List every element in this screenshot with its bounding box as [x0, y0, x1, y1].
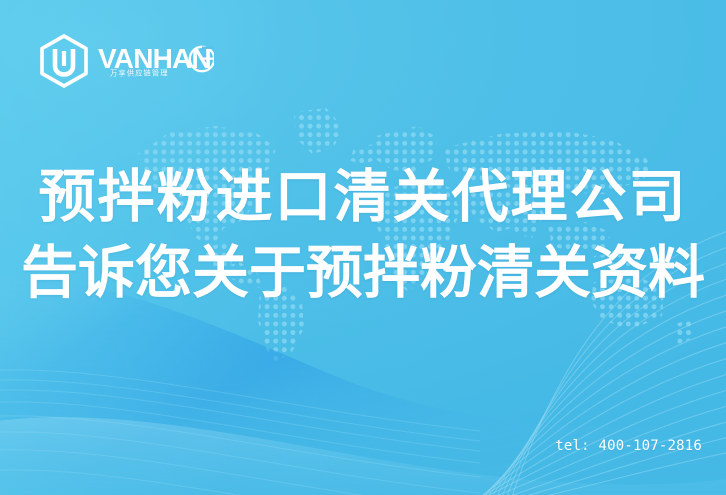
headline-block: 预拌粉进口清关代理公司 告诉您关于预拌粉清关资料 [0, 160, 726, 312]
company-logo[interactable]: VANHAN 万享供应链管理 [36, 33, 98, 89]
logo-subtitle: 万享供应链管理 [110, 68, 169, 78]
contact-telephone[interactable]: tel: 400-107-2816 [555, 438, 702, 454]
headline-line-1: 预拌粉进口清关代理公司 [0, 160, 726, 234]
headline-line-2: 告诉您关于预拌粉清关资料 [0, 234, 726, 312]
hexagon-u-monogram-icon [36, 33, 92, 89]
promo-banner: VANHAN 万享供应链管理 预拌粉进口清关代理公司 告诉您关于预拌粉清关资料 … [0, 0, 726, 495]
